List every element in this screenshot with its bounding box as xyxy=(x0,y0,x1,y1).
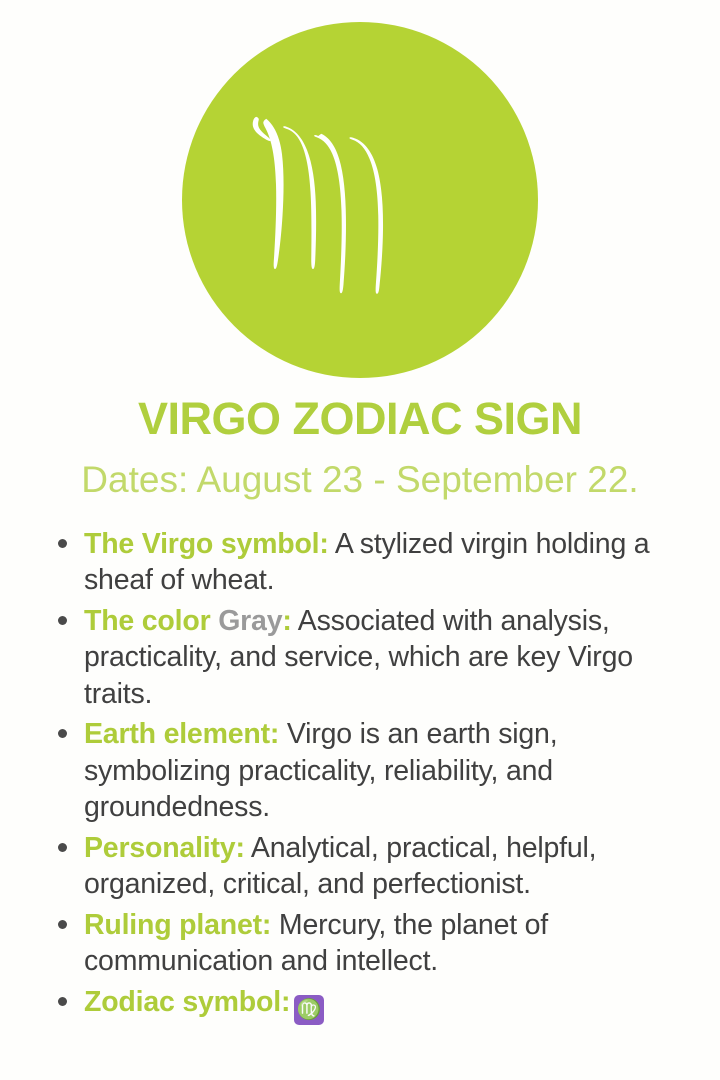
fact-label-colon: : xyxy=(282,605,291,637)
facts-list: The Virgo symbol: A stylized virgin hold… xyxy=(52,526,698,1025)
list-item: The Virgo symbol: A stylized virgin hold… xyxy=(52,526,698,599)
virgo-emblem-circle xyxy=(182,22,538,378)
list-item: Earth element: Virgo is an earth sign, s… xyxy=(52,716,698,825)
virgo-zodiac-infographic: VIRGO ZODIAC SIGN Dates: August 23 - Sep… xyxy=(0,0,720,1080)
emblem-container xyxy=(0,0,720,378)
bullet-dot-icon xyxy=(58,616,67,625)
bullet-dot-icon xyxy=(58,997,67,1006)
list-item: The color Gray: Associated with analysis… xyxy=(52,603,698,712)
date-range-subtitle: Dates: August 23 - September 22. xyxy=(0,461,720,498)
bullet-dot-icon xyxy=(58,920,67,929)
list-item: Personality: Analytical, practical, help… xyxy=(52,830,698,903)
fact-label: The color xyxy=(84,605,218,637)
list-item: Zodiac symbol:♍ xyxy=(52,984,698,1025)
fact-label-gray: Gray xyxy=(218,605,282,637)
fact-label: Zodiac symbol: xyxy=(84,986,290,1018)
bullet-dot-icon xyxy=(58,843,67,852)
bullet-dot-icon xyxy=(58,539,67,548)
virgo-glyph-icon xyxy=(235,75,485,325)
list-item: Ruling planet: Mercury, the planet of co… xyxy=(52,907,698,980)
fact-label: Ruling planet: xyxy=(84,909,271,941)
fact-label: The Virgo symbol: xyxy=(84,528,329,560)
fact-label: Personality: xyxy=(84,832,245,864)
bullet-dot-icon xyxy=(58,729,67,738)
virgo-symbol-badge-icon: ♍ xyxy=(294,995,324,1025)
fact-label: Earth element: xyxy=(84,718,279,750)
page-title: VIRGO ZODIAC SIGN xyxy=(0,396,720,441)
